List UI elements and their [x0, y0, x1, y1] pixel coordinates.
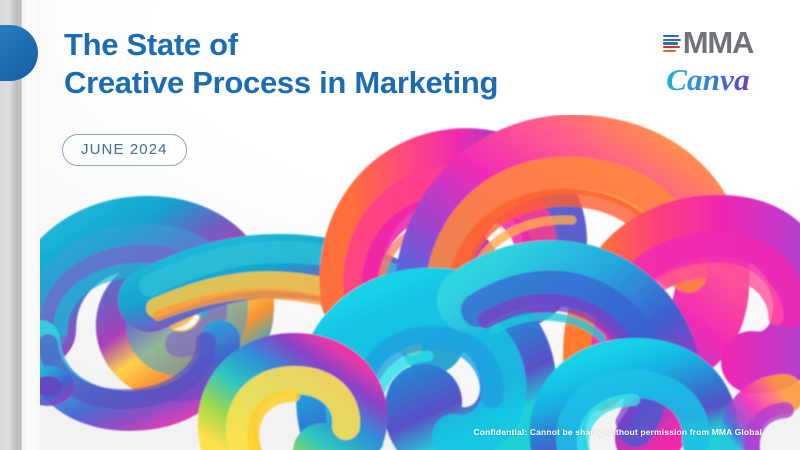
- mma-bars-icon: [663, 35, 681, 52]
- confidential-notice: Confidential: Cannot be shared without p…: [0, 427, 780, 437]
- logo-group: MMA Canva: [644, 26, 772, 98]
- page-title: The State of Creative Process in Marketi…: [64, 26, 664, 102]
- slide-canvas: The State of Creative Process in Marketi…: [0, 0, 800, 450]
- mma-wordmark: MMA: [683, 25, 753, 60]
- canva-logo: Canva: [644, 62, 772, 98]
- mma-logo: MMA: [663, 26, 753, 60]
- date-badge: JUNE 2024: [62, 134, 187, 166]
